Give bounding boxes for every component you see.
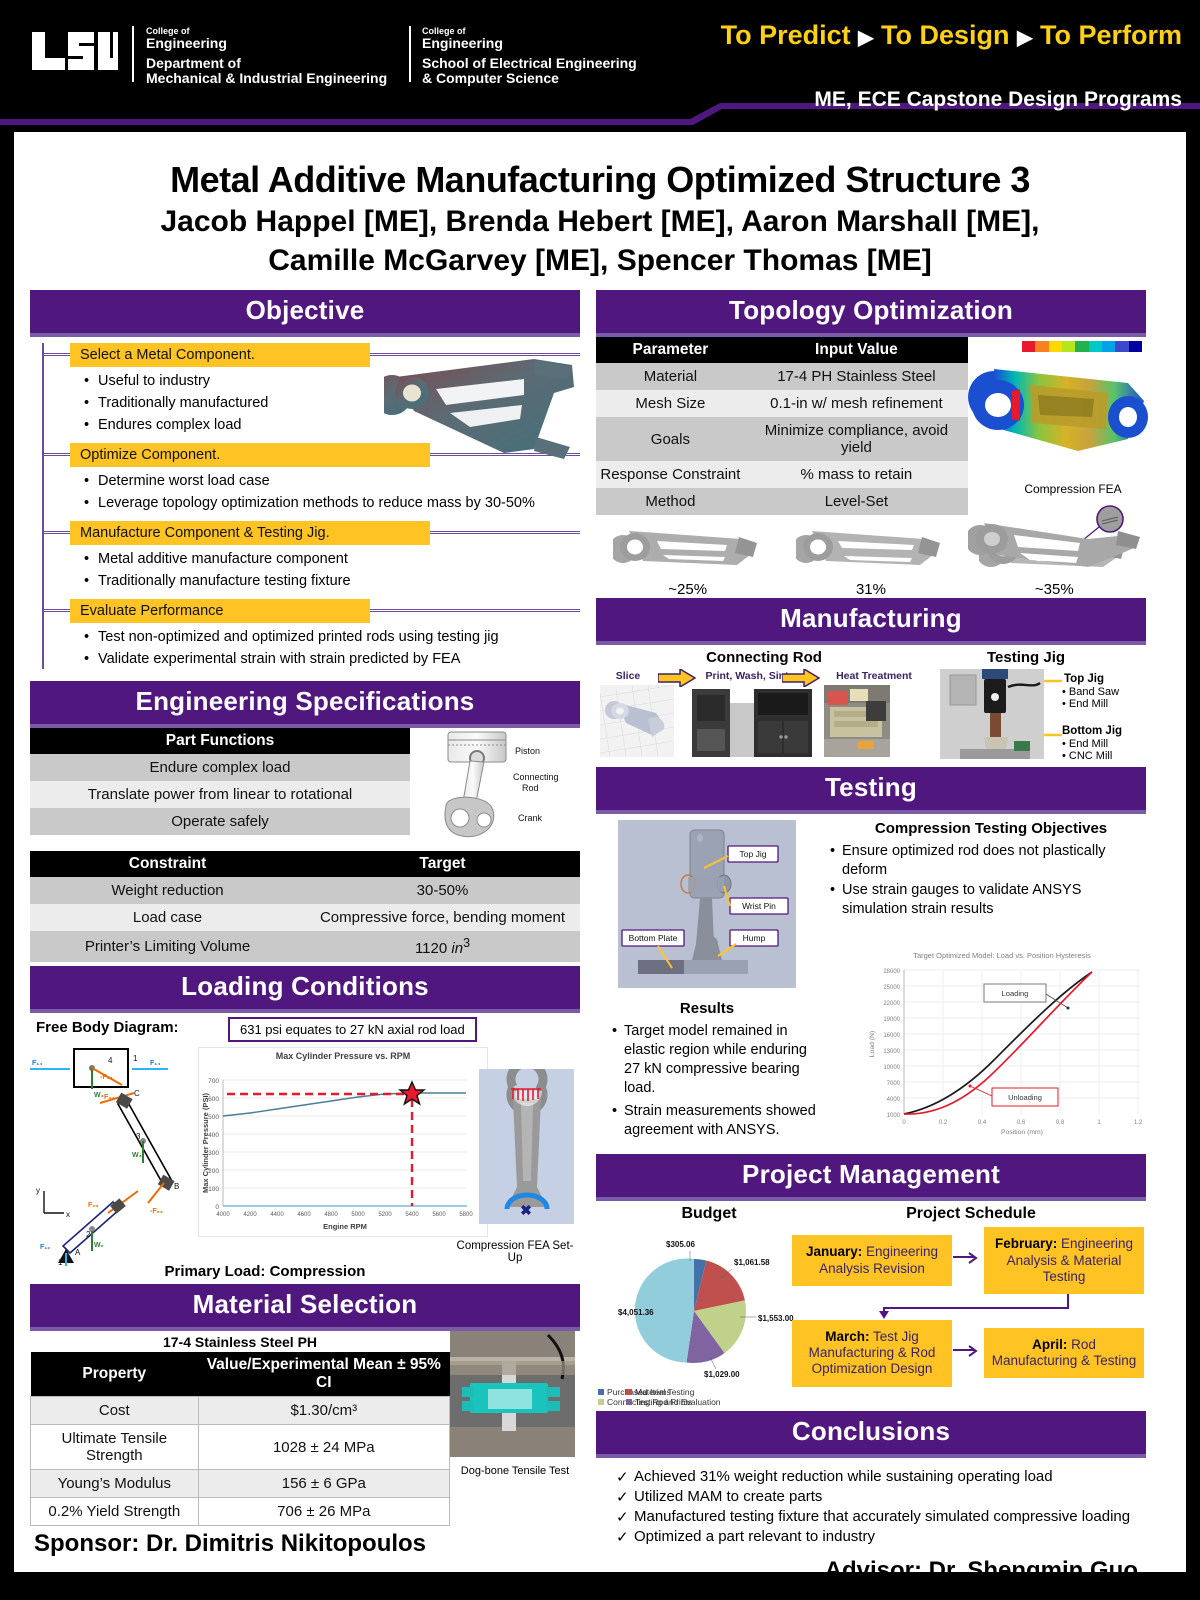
- arrow-feb-march: [792, 1294, 1144, 1320]
- table-header: Target: [305, 851, 580, 877]
- svg-text:W₂: W₂: [94, 1242, 104, 1249]
- left-column: Objective Select a Metal Component. Usef…: [30, 290, 580, 1585]
- svg-text:4600: 4600: [297, 1212, 311, 1218]
- compression-fea-setup-image: ✖: [479, 1069, 574, 1224]
- chart-ylabel: Max Cylinder Pressure (PSI): [201, 1093, 210, 1194]
- legend-item-0: Purchased Items: [598, 1387, 626, 1397]
- table-row: Printer’s Limiting Volume 1120 in3: [30, 931, 580, 962]
- pie-label-0: $305.06: [666, 1240, 695, 1249]
- svg-text:22000: 22000: [883, 1001, 900, 1007]
- svg-text:4800: 4800: [324, 1212, 338, 1218]
- top-jig-items: • Band Saw • End Mill: [1062, 686, 1119, 710]
- table-row: Response Constraint % mass to retain: [596, 461, 968, 488]
- list-item: Manufactured testing fixture that accura…: [614, 1508, 1146, 1525]
- list-item: Optimized a part relevant to industry: [614, 1528, 1146, 1545]
- piston-diagram-image: Piston Connecting Rod Crank: [410, 728, 580, 851]
- svg-text:C: C: [134, 1089, 140, 1098]
- printer-sinter-image: [692, 685, 814, 757]
- header-tagline: To Predict ▶ To Design ▶ To Perform: [721, 20, 1182, 51]
- list-item: Validate experimental strain with strain…: [84, 650, 580, 670]
- objective-step-3-bullets: Metal additive manufacture component Tra…: [84, 550, 580, 591]
- svg-text:Wrist Pin: Wrist Pin: [742, 901, 776, 911]
- list-item: Ensure optimized rod does not plasticall…: [830, 842, 1150, 879]
- svg-text:7000: 7000: [887, 1081, 901, 1087]
- chart-xlabel: Engine RPM: [323, 1222, 367, 1231]
- dept-electrical: College of Engineering School of Electri…: [422, 26, 637, 87]
- free-body-diagram: 4 1 F₁₄ F₁₄ W₄ -F₁₄ C F₃₄: [30, 1041, 198, 1266]
- schedule-box-january: January: Engineering Analysis Revision: [792, 1235, 952, 1285]
- results-title: Results: [618, 1000, 796, 1017]
- svg-text:x: x: [66, 1210, 70, 1219]
- schedule-box-february: February: Engineering Analysis & Materia…: [984, 1227, 1144, 1294]
- section-loading-conditions-header: Loading Conditions: [30, 966, 580, 1013]
- step-label-slice: Slice: [600, 670, 656, 682]
- schedule-box-april: April: Rod Manufacturing & Testing: [984, 1328, 1144, 1378]
- objective-step-1-label: Select a Metal Component.: [70, 343, 370, 367]
- objective-step-4-bullets: Test non-optimized and optimized printed…: [84, 628, 580, 669]
- sliced-rod-image: [600, 685, 674, 757]
- list-item: Determine worst load case: [84, 472, 580, 492]
- svg-text:Connecting: Connecting: [513, 772, 559, 782]
- part-functions-table-wrap: Part Functions Endure complex load Trans…: [30, 728, 410, 851]
- header-divider-1: [132, 26, 134, 82]
- rpm-pressure-chart: Max Cylinder Pressure vs. RPM 700 600 50…: [198, 1047, 488, 1237]
- objective-step-3-label: Manufacture Component & Testing Jig.: [70, 521, 430, 545]
- bottom-jig-items: • End Mill • CNC Mill: [1062, 738, 1112, 762]
- svg-text:5800: 5800: [459, 1212, 473, 1218]
- svg-text:F₁₄: F₁₄: [150, 1060, 161, 1067]
- topology-variant-25: ~25%: [598, 519, 778, 598]
- arrow-jan-feb: [952, 1227, 984, 1294]
- tagline-perform: To Perform: [1040, 20, 1182, 50]
- hysteresis-chart: Target Optimized Model: Load vs. Positio…: [844, 946, 1144, 1136]
- results-list: Target model remained in elastic region …: [610, 1022, 825, 1143]
- variant-percentage: ~35%: [964, 581, 1144, 598]
- table-row: Cost $1.30/cm³: [31, 1397, 450, 1425]
- list-item: Target model remained in elastic region …: [610, 1022, 825, 1097]
- budget-pie-chart: $305.06 $1,061.58 $1,553.00 $1,029.00 $4…: [616, 1225, 806, 1385]
- svg-text:y: y: [36, 1186, 40, 1195]
- svg-text:1.2: 1.2: [1134, 1120, 1143, 1126]
- final-rod-callout-image: [968, 505, 1150, 577]
- svg-text:4000: 4000: [216, 1212, 230, 1218]
- chart-title: Target Optimized Model: Load vs. Positio…: [913, 951, 1091, 960]
- material-subtitle: 17-4 Stainless Steel PH: [30, 1331, 450, 1352]
- tagline-design: To Design: [881, 20, 1010, 50]
- svg-text:W₃: W₃: [132, 1152, 142, 1159]
- section-manufacturing-header: Manufacturing: [596, 598, 1146, 645]
- authors-line1: Jacob Happel [ME], Brenda Hebert [ME], A…: [44, 204, 1156, 239]
- table-row: Material 17-4 PH Stainless Steel: [596, 363, 968, 390]
- capstone-title: ME, ECE Capstone Design Programs: [814, 88, 1182, 112]
- svg-text:Crank: Crank: [518, 813, 543, 823]
- pie-label-2: $1,553.00: [758, 1314, 794, 1323]
- legend-item-1: Material Testing: [626, 1387, 644, 1397]
- svg-text:0: 0: [902, 1120, 906, 1126]
- svg-text:-F₁₄: -F₁₄: [100, 1074, 113, 1081]
- objective-step-4: Evaluate Performance Test non-optimized …: [44, 599, 580, 669]
- svg-text:-F₂₃: -F₂₃: [150, 1208, 163, 1215]
- sponsor-label: Sponsor: Dr. Dimitris Nikitopoulos: [30, 1526, 580, 1558]
- svg-text:700: 700: [208, 1078, 219, 1085]
- section-topology-header: Topology Optimization: [596, 290, 1146, 337]
- svg-text:4: 4: [108, 1056, 113, 1065]
- loading-conditions-body: Free Body Diagram: 631 psi equates to 27…: [30, 1013, 580, 1278]
- list-item: Utilized MAM to create parts: [614, 1488, 1146, 1505]
- section-project-management-header: Project Management: [596, 1154, 1146, 1201]
- objective-step-2-bullets: Determine worst load case Leverage topol…: [84, 472, 580, 513]
- svg-text:B: B: [174, 1182, 179, 1191]
- objective-step-2-label: Optimize Component.: [70, 443, 430, 467]
- compression-objectives-title: Compression Testing Objectives: [836, 820, 1146, 837]
- psi-note-box: 631 psi equates to 27 kN axial rod load: [228, 1017, 477, 1042]
- primary-load-label: Primary Load: Compression: [30, 1263, 500, 1280]
- list-item: Use strain gauges to validate ANSYS simu…: [830, 881, 1150, 918]
- svg-text:Rod: Rod: [522, 783, 539, 793]
- loading-annotation: Loading: [1002, 989, 1029, 998]
- tagline-predict: To Predict: [721, 20, 851, 50]
- list-item: Achieved 31% weight reduction while sust…: [614, 1468, 1146, 1485]
- constraints-table: Constraint Target Weight reduction 30-50…: [30, 851, 580, 962]
- project-management-body: Budget Project Schedule: [596, 1201, 1146, 1411]
- variant-percentage: ~25%: [598, 581, 778, 598]
- material-properties-table: Property Value/Experimental Mean ± 95% C…: [30, 1352, 450, 1526]
- section-engineering-specs-header: Engineering Specifications: [30, 681, 580, 728]
- schedule-title: Project Schedule: [796, 1205, 1146, 1223]
- dogbone-caption: Dog-bone Tensile Test: [450, 1462, 580, 1477]
- fea-colorbar: [1022, 341, 1142, 352]
- objective-body: Select a Metal Component. Useful to indu…: [30, 337, 580, 681]
- table-header: Constraint: [30, 851, 305, 877]
- topology-body: Parameter Input Value Material 17-4 PH S…: [596, 337, 1146, 515]
- dept1-engineering: Engineering: [146, 36, 387, 52]
- free-body-diagram-label: Free Body Diagram:: [36, 1019, 179, 1036]
- conclusions-list: Achieved 31% weight reduction while sust…: [596, 1458, 1146, 1551]
- chart-xlabel: Position (mm): [1001, 1129, 1043, 1136]
- legend-swatch: [598, 1389, 604, 1395]
- engineering-specs-body: Part Functions Endure complex load Trans…: [30, 728, 580, 851]
- dogbone-test-image-wrap: Dog-bone Tensile Test: [450, 1331, 580, 1526]
- legend-swatch: [626, 1389, 632, 1395]
- part-functions-table: Part Functions Endure complex load Trans…: [30, 728, 410, 835]
- schedule-box-march: March: Test Jig Manufacturing & Rod Opti…: [792, 1320, 952, 1387]
- pie-label-3: $1,029.00: [704, 1370, 740, 1379]
- poster-title-block: Metal Additive Manufacturing Optimized S…: [14, 132, 1186, 284]
- svg-text:0.8: 0.8: [1056, 1120, 1065, 1126]
- testing-jig-photo: [940, 669, 1044, 759]
- table-header: Parameter: [596, 337, 745, 363]
- jig-callout-lines: [1044, 669, 1062, 759]
- top-jig-title: Top Jig: [1064, 673, 1104, 685]
- table-row: Mesh Size 0.1-in w/ mesh refinement: [596, 390, 968, 417]
- svg-text:Bottom Plate: Bottom Plate: [629, 933, 678, 943]
- section-material-selection-header: Material Selection: [30, 1284, 580, 1331]
- compression-objectives-list: Ensure optimized rod does not plasticall…: [830, 842, 1150, 920]
- svg-text:19000: 19000: [883, 1017, 900, 1023]
- material-selection-body: 17-4 Stainless Steel PH Property Value/E…: [30, 1331, 580, 1526]
- svg-text:W₄: W₄: [94, 1092, 104, 1099]
- table-row: Translate power from linear to rotationa…: [30, 781, 410, 808]
- poster-columns: Objective Select a Metal Component. Usef…: [14, 284, 1186, 1585]
- svg-text:10000: 10000: [883, 1065, 900, 1071]
- compression-fea-image: [968, 359, 1152, 475]
- svg-text:4000: 4000: [887, 1097, 901, 1103]
- svg-text:0.2: 0.2: [939, 1120, 948, 1126]
- legend-swatch: [626, 1399, 632, 1405]
- table-header: Property: [31, 1352, 199, 1397]
- table-header: Input Value: [745, 337, 968, 363]
- section-objective-header: Objective: [30, 290, 580, 337]
- svg-text:25000: 25000: [883, 985, 900, 991]
- schedule-cell-january: January: Engineering Analysis Revision: [792, 1227, 952, 1294]
- svg-text:5400: 5400: [405, 1212, 419, 1218]
- topology-parameters-table: Parameter Input Value Material 17-4 PH S…: [596, 337, 968, 515]
- svg-text:F₃₄: F₃₄: [104, 1094, 115, 1101]
- page-header: College of Engineering Department of Mec…: [0, 0, 1200, 130]
- table-row: Operate safely: [30, 808, 410, 835]
- page-title: Metal Additive Manufacturing Optimized S…: [44, 160, 1156, 200]
- topology-table-wrap: Parameter Input Value Material 17-4 PH S…: [596, 337, 968, 515]
- table-header: Part Functions: [30, 728, 410, 754]
- topology-variant-31: 31%: [781, 519, 961, 598]
- svg-text:5600: 5600: [432, 1212, 446, 1218]
- triangle-icon-2: ▶: [1017, 27, 1032, 49]
- material-table-wrap: 17-4 Stainless Steel PH Property Value/E…: [30, 1331, 450, 1526]
- header-divider-2: [409, 26, 411, 82]
- limiting-volume-value: 1120 in3: [305, 931, 580, 962]
- svg-text:13000: 13000: [883, 1049, 900, 1055]
- svg-text:A: A: [75, 1248, 81, 1257]
- dept1-line1: Department of: [146, 56, 387, 72]
- svg-text:5000: 5000: [351, 1212, 365, 1218]
- compression-fea-caption: Compression FEA: [1008, 482, 1138, 496]
- table-row: Young’s Modulus 156 ± 6 GPa: [31, 1470, 450, 1498]
- advisor-label: Advisor: Dr. Shengmin Guo: [596, 1551, 1146, 1585]
- legend-swatch: [598, 1399, 604, 1405]
- testing-body: Top Jig Wrist Pin Bottom Plate Hump Comp…: [596, 814, 1146, 1154]
- objective-step-4-label: Evaluate Performance: [70, 599, 370, 623]
- authors-line2: Camille McGarvey [ME], Spencer Thomas [M…: [44, 243, 1156, 278]
- unloading-annotation: Unloading: [1008, 1093, 1042, 1102]
- triangle-icon-1: ▶: [858, 27, 873, 49]
- dept-mechanical: College of Engineering Department of Mec…: [146, 26, 387, 87]
- svg-text:0: 0: [215, 1204, 219, 1211]
- svg-text:Hump: Hump: [743, 933, 766, 943]
- bottom-jig-title: Bottom Jig: [1062, 725, 1122, 737]
- variant-percentage: 31%: [781, 581, 961, 598]
- svg-text:Piston: Piston: [515, 746, 540, 756]
- svg-text:16000: 16000: [883, 1033, 900, 1039]
- table-header: Value/Experimental Mean ± 95% CI: [198, 1352, 449, 1397]
- svg-text:0.6: 0.6: [1017, 1120, 1026, 1126]
- section-testing-header: Testing: [596, 767, 1146, 814]
- table-row: Load case Compressive force, bending mom…: [30, 904, 580, 931]
- arrow-march-april: [952, 1320, 984, 1387]
- table-row: Method Level-Set: [596, 488, 968, 515]
- heat-treatment-image: [824, 685, 890, 757]
- dept2-engineering: Engineering: [422, 36, 637, 52]
- pie-label-4: $4,051.36: [618, 1308, 654, 1317]
- legend-item-2: Connecting Rod Prints: [598, 1397, 626, 1407]
- dept2-line2: & Computer Science: [422, 71, 637, 87]
- chart-title: Max Cylinder Pressure vs. RPM: [199, 1048, 487, 1061]
- list-item: Test non-optimized and optimized printed…: [84, 628, 580, 648]
- dept2-line1: School of Electrical Engineering: [422, 56, 637, 72]
- topology-fea-wrap: Compression FEA: [968, 337, 1146, 515]
- svg-text:F₁₂: F₁₂: [40, 1244, 50, 1251]
- table-row: Weight reduction 30-50%: [30, 877, 580, 904]
- objective-step-3: Manufacture Component & Testing Jig. Met…: [44, 521, 580, 591]
- table-row: Goals Minimize compliance, avoid yield: [596, 417, 968, 461]
- connecting-rod-subtitle: Connecting Rod: [604, 649, 924, 666]
- list-item: Leverage topology optimization methods t…: [84, 494, 580, 514]
- section-conclusions-header: Conclusions: [596, 1411, 1146, 1458]
- svg-text:2: 2: [86, 1230, 91, 1239]
- legend-item-3: Testing and Evaluation: [626, 1397, 644, 1407]
- project-schedule-grid: January: Engineering Analysis Revision F…: [792, 1227, 1144, 1386]
- svg-text:✖: ✖: [520, 1202, 532, 1218]
- connecting-rod-render-image: [384, 353, 584, 471]
- poster-body: Metal Additive Manufacturing Optimized S…: [14, 132, 1186, 1572]
- chart-ylabel: Load (N): [869, 1031, 876, 1057]
- dogbone-tensile-test-image: [450, 1331, 575, 1457]
- svg-text:1: 1: [133, 1054, 138, 1063]
- table-row: Endure complex load: [30, 754, 410, 781]
- table-row: 0.2% Yield Strength 706 ± 26 MPa: [31, 1498, 450, 1526]
- svg-text:1000: 1000: [887, 1113, 901, 1119]
- pie-label-1: $1,061.58: [734, 1258, 770, 1267]
- jig-assembly-diagram: Top Jig Wrist Pin Bottom Plate Hump: [618, 820, 796, 988]
- fea-setup-caption: Compression FEA Set-Up: [450, 1240, 580, 1264]
- schedule-cell-march: March: Test Jig Manufacturing & Rod Opti…: [792, 1320, 952, 1387]
- svg-text:5200: 5200: [378, 1212, 392, 1218]
- step-label-heat: Heat Treatment: [824, 670, 924, 682]
- schedule-cell-april: April: Rod Manufacturing & Testing: [984, 1320, 1144, 1387]
- manufacturing-body: Connecting Rod Testing Jig Slice Print, …: [596, 645, 1146, 767]
- list-item: Metal additive manufacture component: [84, 550, 580, 570]
- schedule-cell-february: February: Engineering Analysis & Materia…: [984, 1227, 1144, 1294]
- budget-title: Budget: [644, 1205, 774, 1223]
- lsu-logo: [30, 30, 120, 72]
- svg-text:Top Jig: Top Jig: [740, 849, 767, 859]
- budget-legend: Purchased Items Material Testing Connect…: [598, 1387, 798, 1407]
- list-item: Traditionally manufacture testing fixtur…: [84, 572, 580, 592]
- table-row: Ultimate Tensile Strength 1028 ± 24 MPa: [31, 1425, 450, 1470]
- svg-text:F₁₄: F₁₄: [32, 1060, 43, 1067]
- dept1-line2: Mechanical & Industrial Engineering: [146, 71, 387, 87]
- testing-jig-subtitle: Testing Jig: [956, 649, 1096, 666]
- right-column: Topology Optimization Parameter Input Va…: [596, 290, 1146, 1585]
- svg-text:4200: 4200: [243, 1212, 257, 1218]
- svg-text:1: 1: [1097, 1120, 1101, 1126]
- svg-text:3: 3: [136, 1132, 141, 1141]
- svg-text:F₂₃: F₂₃: [88, 1202, 99, 1209]
- list-item: Strain measurements showed agreement wit…: [610, 1102, 825, 1140]
- svg-text:28000: 28000: [883, 969, 900, 975]
- svg-text:4400: 4400: [270, 1212, 284, 1218]
- svg-text:0.4: 0.4: [978, 1120, 987, 1126]
